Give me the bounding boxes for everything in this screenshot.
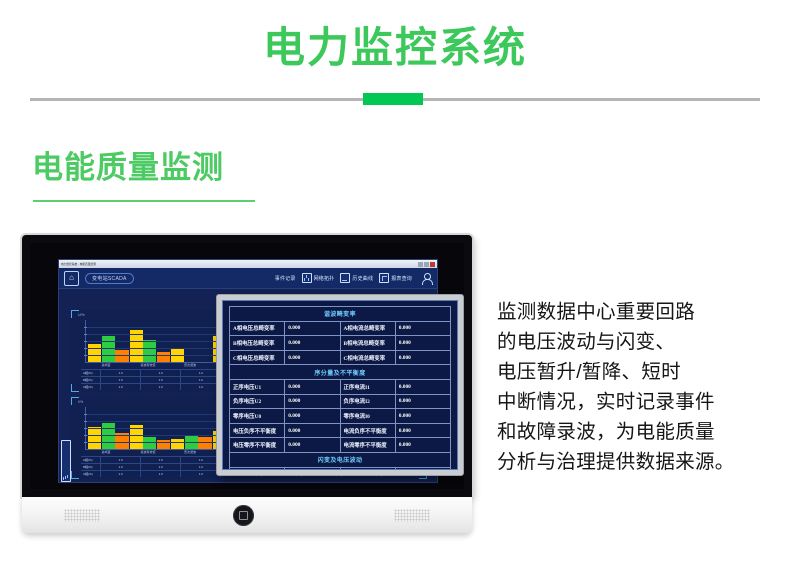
bar-group <box>88 322 129 362</box>
description-line-4: 和故障录波，为电能质量 <box>497 417 782 447</box>
section-title: 闪变及电压波动 <box>230 452 451 467</box>
app-window-title: 电力监控系统 - 电能质量监测 <box>61 262 96 266</box>
bar <box>143 437 156 449</box>
x-tick-label: 基波有效值 <box>127 363 169 367</box>
data-row-header: C相(%) <box>81 471 100 477</box>
minimize-button[interactable] <box>418 262 423 267</box>
app-titlebar: 电力监控系统 - 电能质量监测 <box>59 260 437 268</box>
row-label-right: 电流负序不平衡度 <box>340 423 395 438</box>
row-value-right: 0.000 <box>395 394 450 409</box>
event-log-icon <box>61 440 71 482</box>
nav-item-event-log[interactable]: 事件记录 <box>275 275 296 282</box>
nav-item-topology[interactable]: 网络拓扑 <box>302 273 335 283</box>
data-cell: 1.0 <box>100 377 140 383</box>
data-cell: 1.0 <box>180 370 220 376</box>
row-value-left: 0.000 <box>285 409 340 424</box>
y-tick <box>84 414 87 415</box>
bar-group <box>88 409 129 449</box>
data-row-header: A相(%) <box>81 370 100 376</box>
y-tick <box>84 428 87 429</box>
table-row: 正序电压U10.000正序电流I10.000 <box>230 379 451 394</box>
description-line-1: 的电压波动与闪变、 <box>497 327 782 357</box>
data-cell: 1.0 <box>180 471 220 477</box>
row-label-right: C相电流总畸变率 <box>340 350 395 365</box>
table-row: B相电压总畸变率0.000B相电流总畸变率0.000 <box>230 336 451 351</box>
row-value-left: 0.000 <box>285 350 340 365</box>
chart-ylabel-0: U/% <box>78 313 85 317</box>
row-label-left: 电压零序不平衡度 <box>230 438 285 453</box>
power-quality-table: 谐波畸变率A相电压总畸变率0.000A相电流总畸变率0.000B相电压总畸变率0… <box>229 306 451 470</box>
bar <box>171 439 184 449</box>
row-value-left: 0.000 <box>285 423 340 438</box>
row-label-left: A相电压总畸变率 <box>230 321 285 336</box>
monitor-screen: 电力监控系统 - 电能质量监测 ⌂ 变电站SCADA <box>30 243 464 489</box>
nav-item-report-query[interactable]: 报表查询 <box>379 273 412 283</box>
y-tick <box>84 348 87 349</box>
y-tick <box>84 327 87 328</box>
table-row: A相电压总畸变率0.000A相电流总畸变率0.000 <box>230 321 451 336</box>
home-button[interactable] <box>233 505 254 526</box>
section-underline <box>33 200 255 202</box>
row-value-right: 0.000 <box>395 409 450 424</box>
home-icon[interactable]: ⌂ <box>64 271 79 286</box>
y-tick <box>84 334 87 335</box>
row-label-left: 零序电压U0 <box>230 409 285 424</box>
window-controls[interactable] <box>418 262 435 267</box>
data-cell: 1.0 <box>140 471 180 477</box>
power-quality-dialog[interactable]: 谐波畸变率A相电压总畸变率0.000A相电流总畸变率0.000B相电压总畸变率0… <box>216 294 464 476</box>
data-cell: 1.0 <box>140 384 180 390</box>
nav-label-event-log: 事件记录 <box>275 275 296 282</box>
page-title: 电力监控系统 <box>0 22 790 74</box>
monitor-frame: 电力监控系统 - 电能质量监测 ⌂ 变电站SCADA <box>22 235 472 497</box>
left-speaker-grille <box>64 509 100 522</box>
x-tick-label: 总畸变 <box>85 450 127 454</box>
row-label-right: B相电流总畸变率 <box>340 336 395 351</box>
table-row: C相电压总畸变率0.000C相电流总畸变率0.000 <box>230 350 451 365</box>
data-row-header: B相(%) <box>81 464 100 470</box>
data-cell: 1.0 <box>100 370 140 376</box>
section-title: 电能质量监测 <box>32 142 224 187</box>
row-value-right: 0.000 <box>395 321 450 336</box>
row-value-right: 0.000 <box>395 350 450 365</box>
row-value-left: 0.000 <box>285 438 340 453</box>
row-value-right: 0.000 <box>395 423 450 438</box>
data-cell: 1.0 <box>140 377 180 383</box>
table-row: 零序电压U00.000零序电流I00.000 <box>230 409 451 424</box>
curve-icon <box>340 273 350 283</box>
row-label-left: 负序电压U2 <box>230 394 285 409</box>
row-label-left: 电压负序不平衡度 <box>230 423 285 438</box>
promo-page: 电力监控系统 电能质量监测 电力监控系统 - 电能质量监测 <box>0 0 790 564</box>
nav-label-topology: 网络拓扑 <box>314 275 335 282</box>
nav-item-history-curve[interactable]: 历史曲线 <box>340 273 373 283</box>
data-cell: 1.0 <box>100 464 140 470</box>
monitor-device: 电力监控系统 - 电能质量监测 ⌂ 变电站SCADA <box>22 235 472 540</box>
maximize-button[interactable] <box>424 262 429 267</box>
data-cell: 1.0 <box>180 457 220 463</box>
bar <box>102 423 115 449</box>
nav-label-report-query: 报表查询 <box>391 275 412 282</box>
dialog-body: 谐波畸变率A相电压总畸变率0.000A相电流总畸变率0.000B相电压总畸变率0… <box>222 300 458 470</box>
close-button[interactable] <box>430 262 435 267</box>
row-value-right: 0.000 <box>395 438 450 453</box>
y-tick <box>84 341 87 342</box>
table-row: A相电压短时闪变0.000A相电流长时闪变0.000 <box>230 467 451 470</box>
y-tick <box>84 355 87 356</box>
data-row-header: A相(%) <box>81 457 100 463</box>
row-value-left: 0.000 <box>285 336 340 351</box>
data-cell: 1.0 <box>100 384 140 390</box>
row-value-right: 0.000 <box>395 467 450 470</box>
bar <box>115 350 128 362</box>
corner-bl <box>71 384 79 392</box>
bar-group <box>130 409 171 449</box>
bar-group <box>171 322 212 362</box>
table-row: 负序电压U20.000负序电流I20.000 <box>230 394 451 409</box>
description-line-3: 中断情况，实时记录事件 <box>497 387 782 417</box>
row-value-right: 0.000 <box>395 336 450 351</box>
bar <box>102 336 115 362</box>
row-label-left: A相电压短时闪变 <box>230 467 285 470</box>
header-divider <box>30 93 760 105</box>
data-cell: 1.0 <box>100 457 140 463</box>
row-label-right: 电流零序不平衡度 <box>340 438 395 453</box>
bar <box>198 437 211 449</box>
y-tick <box>84 442 87 443</box>
section-title: 谐波畸变率 <box>230 307 451 322</box>
y-tick <box>84 435 87 436</box>
bar <box>143 340 156 362</box>
section-title: 序分量及不平衡度 <box>230 365 451 380</box>
row-label-right: 负序电流I2 <box>340 394 395 409</box>
row-value-left: 0.000 <box>285 467 340 470</box>
data-cell: 1.0 <box>140 457 180 463</box>
section-header-row: 序分量及不平衡度 <box>230 365 451 380</box>
x-tick-label: 总畸变 <box>85 363 127 367</box>
x-tick-label: 基波有效值 <box>127 450 169 454</box>
row-value-right: 0.000 <box>395 379 450 394</box>
data-row-header: B相(%) <box>81 377 100 383</box>
y-tick <box>84 421 87 422</box>
home-button-glyph <box>239 511 248 520</box>
x-tick-label: 奇次谐波 <box>169 363 211 367</box>
topology-icon <box>302 273 312 283</box>
row-label-right: 零序电流I0 <box>340 409 395 424</box>
chart-ylabel-1: I/% <box>78 400 83 404</box>
row-value-left: 0.000 <box>285 379 340 394</box>
description-line-2: 电压暂升/暂降、短时 <box>497 357 782 387</box>
user-icon[interactable] <box>421 273 432 284</box>
section-header-row: 谐波畸变率 <box>230 307 451 322</box>
data-cell: 1.0 <box>140 370 180 376</box>
row-label-left: B相电压总畸变率 <box>230 336 285 351</box>
row-value-left: 0.000 <box>285 394 340 409</box>
bar-group <box>130 322 171 362</box>
power-quality-tbody: 谐波畸变率A相电压总畸变率0.000A相电流总畸变率0.000B相电压总畸变率0… <box>230 307 451 471</box>
right-speaker-grille <box>394 509 430 522</box>
divider-accent-block <box>363 93 423 105</box>
report-icon <box>379 273 389 283</box>
monitor-bezel-bottom <box>22 497 472 533</box>
row-label-right: 正序电流I1 <box>340 379 395 394</box>
row-value-left: 0.000 <box>285 321 340 336</box>
row-label-left: 正序电压U1 <box>230 379 285 394</box>
description-line-5: 分析与治理提供数据来源。 <box>497 447 782 477</box>
table-row: 电压零序不平衡度0.000电流零序不平衡度0.000 <box>230 438 451 453</box>
data-cell: 1.0 <box>100 471 140 477</box>
section-header-row: 闪变及电压波动 <box>230 452 451 467</box>
description-text: 监测数据中心重要回路的电压波动与闪变、电压暂升/暂降、短时中断情况，实时记录事件… <box>497 297 782 477</box>
data-row-header: C相(%) <box>81 384 100 390</box>
data-cell: 1.0 <box>140 464 180 470</box>
nav-label-history-curve: 历史曲线 <box>352 275 373 282</box>
bar <box>88 344 101 362</box>
description-line-0: 监测数据中心重要回路 <box>497 297 782 327</box>
table-row: 电压负序不平衡度0.000电流负序不平衡度0.000 <box>230 423 451 438</box>
row-label-right: A相电流长时闪变 <box>340 467 395 470</box>
x-tick-label: 奇次谐波 <box>169 450 211 454</box>
bar-group <box>171 409 212 449</box>
row-label-right: A相电流总畸变率 <box>340 321 395 336</box>
bar <box>88 427 101 449</box>
data-cell: 1.0 <box>180 384 220 390</box>
app-navbar: ⌂ 变电站SCADA 事件记录 网络拓扑 历 <box>59 268 437 289</box>
data-cell: 1.0 <box>180 464 220 470</box>
scada-badge[interactable]: 变电站SCADA <box>85 273 134 284</box>
row-label-left: C相电压总畸变率 <box>230 350 285 365</box>
corner-bl <box>71 471 79 479</box>
bar <box>157 352 170 362</box>
data-cell: 1.0 <box>180 377 220 383</box>
